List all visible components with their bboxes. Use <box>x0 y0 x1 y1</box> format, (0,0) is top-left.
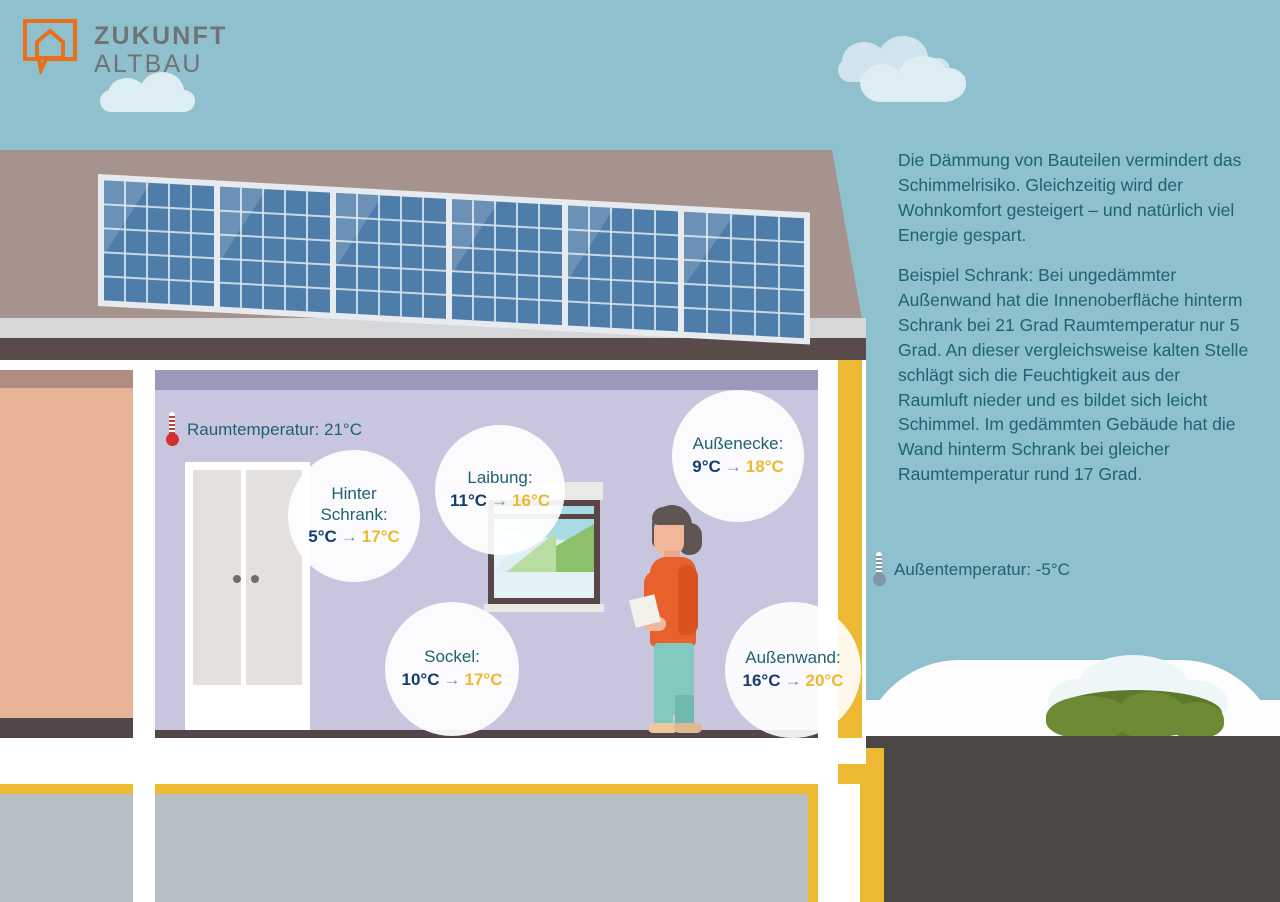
thermometer-red-icon <box>165 412 178 448</box>
person-figure <box>640 505 710 735</box>
room-temperature-row: Raumtemperatur: 21°C <box>165 412 362 448</box>
bubble-label-line1: Außenecke: <box>693 434 784 455</box>
bubble-cold-value: 10°C <box>402 670 440 689</box>
description-text: Die Dämmung von Bauteilen vermindert das… <box>898 148 1250 487</box>
bubble-cold-value: 11°C <box>450 491 487 510</box>
bubble-cold-value: 5°C <box>308 527 337 546</box>
bubble-values: 5°C→17°C <box>308 527 400 548</box>
main-room-ceiling <box>155 370 818 390</box>
insulation-exterior-wall-lower <box>860 748 884 902</box>
bubble-aussenwand[interactable]: Außenwand: 16°C→20°C <box>725 602 861 738</box>
house-speech-bubble-icon <box>22 18 78 74</box>
bubble-warm-value: 16°C <box>512 491 550 510</box>
description-paragraph-2: Beispiel Schrank: Bei ungedämmter Außenw… <box>898 263 1250 487</box>
bubble-arrow-icon: → <box>781 671 806 690</box>
bubble-cold-value: 9°C <box>692 457 721 476</box>
left-room-floor <box>0 718 133 738</box>
bubble-values: 11°C→16°C <box>450 491 550 512</box>
bubble-label-line1: Sockel: <box>424 647 480 668</box>
insulation-cellar-left-top <box>0 784 133 794</box>
bubble-hinter-schrank[interactable]: Hinter Schrank: 5°C→17°C <box>288 450 420 582</box>
cellar-white-gap <box>0 738 866 764</box>
cloud-front-icon <box>860 56 970 102</box>
bubble-warm-value: 20°C <box>806 671 844 690</box>
room-temperature-label: Raumtemperatur: 21°C <box>187 420 362 440</box>
outside-temperature-row: Außentemperatur: -5°C <box>872 552 1070 588</box>
bubble-warm-value: 17°C <box>465 670 503 689</box>
bubble-values: 16°C→20°C <box>743 671 844 692</box>
bubble-warm-value: 17°C <box>362 527 400 546</box>
logo[interactable]: ZUKUNFT ALTBAU <box>22 18 232 90</box>
insulation-exterior-wall <box>836 360 862 784</box>
window-sill <box>484 604 604 612</box>
description-paragraph-1: Die Dämmung von Bauteilen vermindert das… <box>898 148 1250 247</box>
cellar-left <box>0 794 133 902</box>
insulation-cellar-right <box>808 784 818 902</box>
wardrobe-knob-right[interactable] <box>251 575 259 583</box>
logo-line-1: ZUKUNFT <box>94 22 227 50</box>
roof-fascia-dark <box>0 338 866 360</box>
bubble-label-line2: Schrank: <box>320 505 387 526</box>
wardrobe-knob-left[interactable] <box>233 575 241 583</box>
left-room-ceiling <box>0 370 133 388</box>
left-room <box>0 388 133 718</box>
cellar-main <box>155 794 808 902</box>
bubble-laibung[interactable]: Laibung: 11°C→16°C <box>435 425 565 555</box>
bubble-cold-value: 16°C <box>743 671 781 690</box>
logo-line-2: ALTBAU <box>94 50 227 78</box>
ground-dark-step <box>890 760 1280 902</box>
insulation-cellar-top <box>155 784 818 794</box>
outside-temperature-label: Außentemperatur: -5°C <box>894 560 1070 580</box>
bubble-values: 10°C→17°C <box>402 670 503 691</box>
person-shoe-back <box>674 723 702 733</box>
bubble-arrow-icon: → <box>440 670 465 689</box>
bubble-label-line1: Laibung: <box>467 468 532 489</box>
bubble-sockel[interactable]: Sockel: 10°C→17°C <box>385 602 519 736</box>
bubble-aussenecke[interactable]: Außenecke: 9°C→18°C <box>672 390 804 522</box>
logo-wordmark: ZUKUNFT ALTBAU <box>94 22 227 78</box>
bubble-arrow-icon: → <box>721 457 746 476</box>
person-sleeve-back <box>678 565 698 635</box>
bubble-label-line1: Hinter <box>331 484 376 505</box>
person-hair-front <box>652 507 686 525</box>
bubble-values: 9°C→18°C <box>692 457 784 478</box>
bubble-warm-value: 18°C <box>746 457 784 476</box>
infographic-canvas: Hinter Schrank: 5°C→17°C Laibung: 11°C→1… <box>0 0 1280 902</box>
bubble-arrow-icon: → <box>487 491 512 510</box>
bubble-arrow-icon: → <box>337 527 362 546</box>
thermometer-blue-icon <box>872 552 885 588</box>
bush-foliage-right <box>1168 702 1224 738</box>
bubble-label-line1: Außenwand: <box>745 648 840 669</box>
